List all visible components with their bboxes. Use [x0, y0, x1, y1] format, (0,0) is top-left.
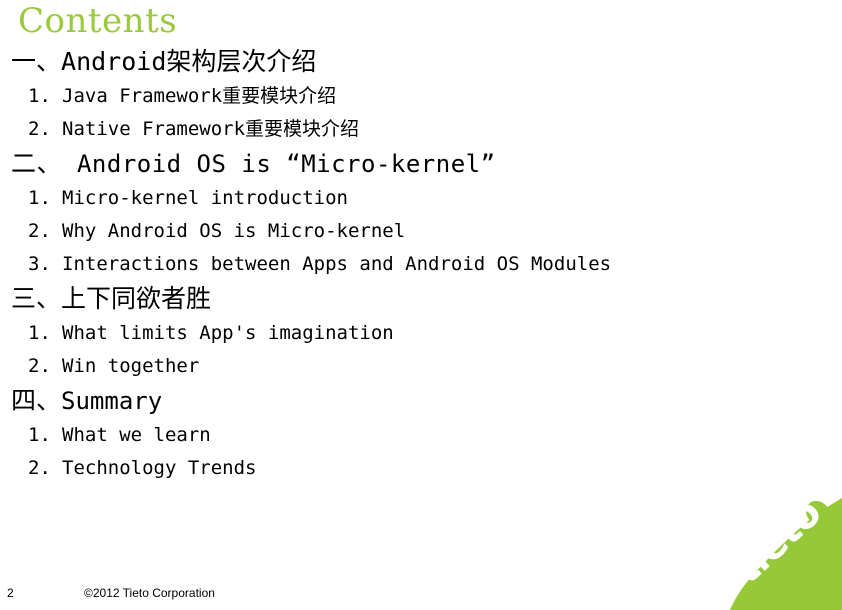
- tieto-logo: tieto: [730, 498, 842, 610]
- page-title: Contents: [18, 2, 177, 40]
- list-item-number: 2.: [28, 113, 62, 146]
- section-heading-label: Android OS is “Micro-kernel”: [62, 150, 496, 178]
- list-item-number: 2.: [28, 350, 62, 383]
- section-heading: 三、上下同欲者胜: [0, 281, 842, 317]
- section-marker: 一、: [11, 47, 61, 76]
- list-item: 1.Java Framework重要模块介绍: [0, 80, 842, 113]
- list-item: 2.Technology Trends: [0, 452, 842, 485]
- section-heading-label: Summary: [61, 387, 162, 415]
- list-item-number: 2.: [28, 452, 62, 485]
- list-item-label: Java Framework重要模块介绍: [62, 85, 336, 107]
- contents-outline: 一、Android架构层次介绍 1.Java Framework重要模块介绍 2…: [0, 44, 842, 485]
- section-sub-list: 1.What we learn 2.Technology Trends: [0, 419, 842, 485]
- section-sub-list: 1.Java Framework重要模块介绍 2.Native Framewor…: [0, 80, 842, 146]
- list-item-number: 1.: [28, 317, 62, 350]
- section-marker: 四、: [11, 386, 61, 415]
- list-item-number: 3.: [28, 248, 62, 281]
- list-item-label: Why Android OS is Micro-kernel: [62, 220, 405, 242]
- copyright-notice: ©2012 Tieto Corporation: [84, 586, 215, 600]
- outline-section: 二、 Android OS is “Micro-kernel” 1.Micro-…: [0, 146, 842, 281]
- list-item: 1.What we learn: [0, 419, 842, 452]
- tieto-logo-shape: [730, 498, 842, 610]
- list-item: 2.Native Framework重要模块介绍: [0, 113, 842, 146]
- list-item-label: Interactions between Apps and Android OS…: [62, 253, 611, 275]
- section-marker: 二、: [11, 149, 62, 178]
- section-heading-label: Android架构层次介绍: [61, 47, 316, 76]
- section-heading: 一、Android架构层次介绍: [0, 44, 842, 80]
- presentation-slide: Contents 一、Android架构层次介绍 1.Java Framewor…: [0, 0, 842, 610]
- list-item: 1.What limits App's imagination: [0, 317, 842, 350]
- page-number: 2: [7, 586, 14, 600]
- outline-section: 四、Summary 1.What we learn 2.Technology T…: [0, 383, 842, 485]
- section-heading-label: 上下同欲者胜: [61, 284, 211, 313]
- section-sub-list: 1.Micro-kernel introduction 2.Why Androi…: [0, 182, 842, 281]
- list-item: 1.Micro-kernel introduction: [0, 182, 842, 215]
- list-item-number: 1.: [28, 80, 62, 113]
- list-item: 2.Win together: [0, 350, 842, 383]
- list-item-label: Win together: [62, 355, 199, 377]
- section-heading: 二、 Android OS is “Micro-kernel”: [0, 146, 842, 182]
- outline-section: 三、上下同欲者胜 1.What limits App's imagination…: [0, 281, 842, 383]
- list-item-number: 2.: [28, 215, 62, 248]
- list-item-label: Technology Trends: [62, 457, 256, 479]
- slide-footer: 2 ©2012 Tieto Corporation: [0, 584, 842, 604]
- list-item-label: What we learn: [62, 424, 211, 446]
- outline-section: 一、Android架构层次介绍 1.Java Framework重要模块介绍 2…: [0, 44, 842, 146]
- section-heading: 四、Summary: [0, 383, 842, 419]
- list-item-label: What limits App's imagination: [62, 322, 394, 344]
- section-marker: 三、: [11, 284, 61, 313]
- list-item-number: 1.: [28, 419, 62, 452]
- list-item: 3.Interactions between Apps and Android …: [0, 248, 842, 281]
- list-item: 2.Why Android OS is Micro-kernel: [0, 215, 842, 248]
- list-item-label: Micro-kernel introduction: [62, 187, 348, 209]
- list-item-label: Native Framework重要模块介绍: [62, 118, 359, 140]
- list-item-number: 1.: [28, 182, 62, 215]
- section-sub-list: 1.What limits App's imagination 2.Win to…: [0, 317, 842, 383]
